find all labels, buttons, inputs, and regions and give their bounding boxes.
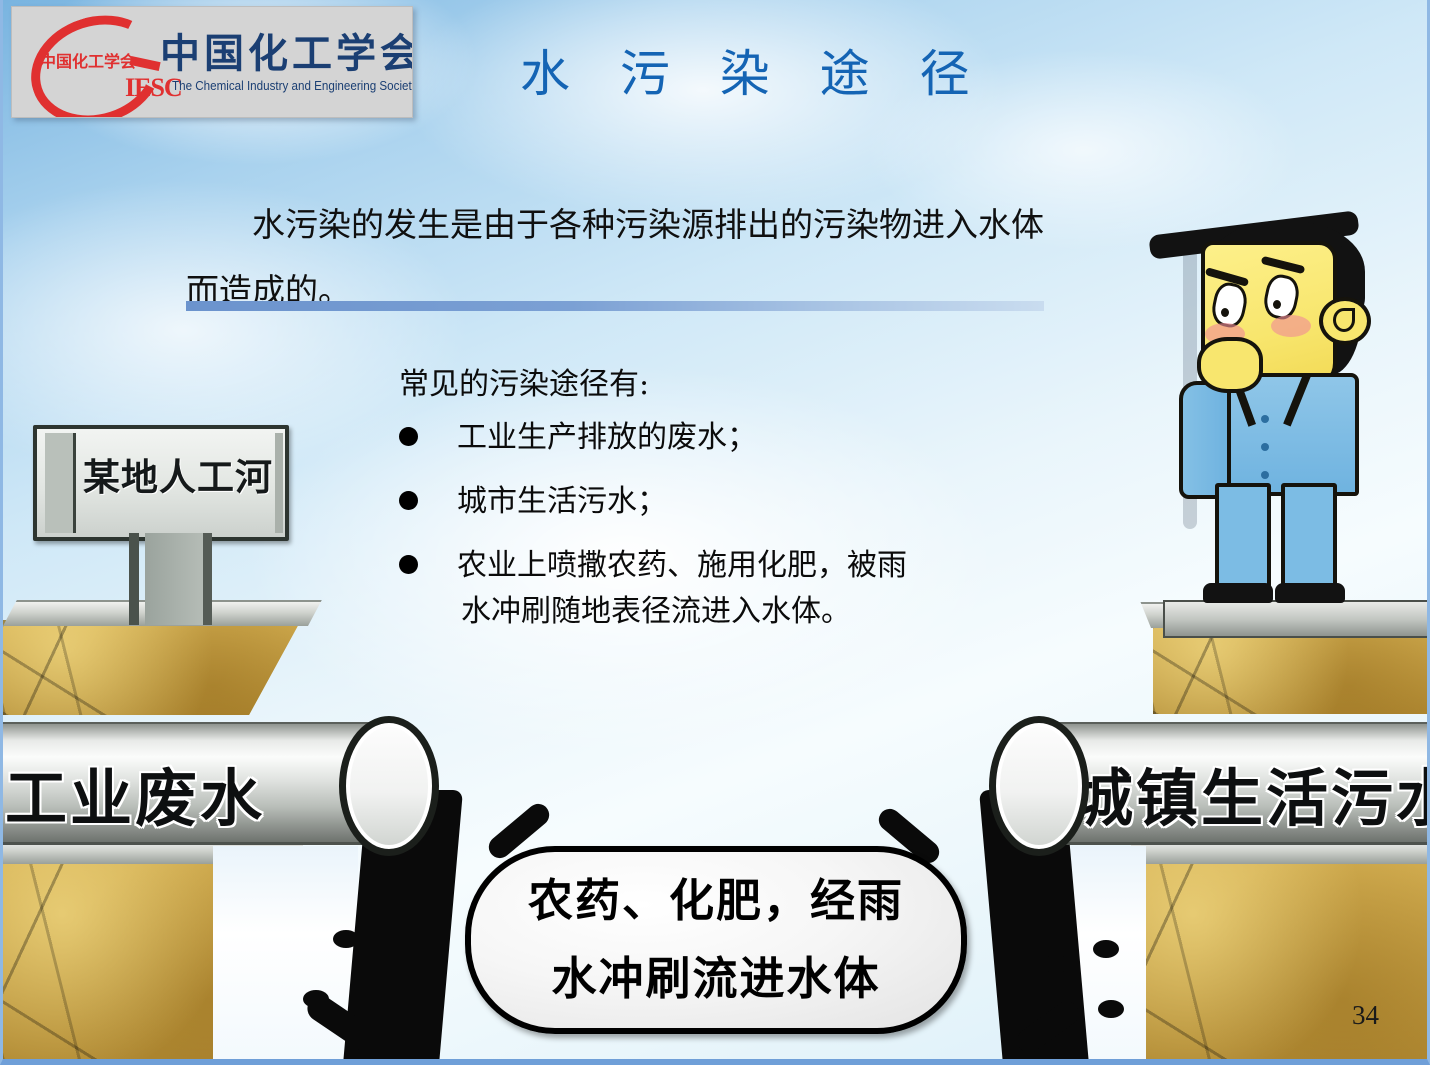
man-platform: [1163, 600, 1430, 638]
road-sign: 某地人工河: [33, 425, 293, 625]
pipe-industrial-wastewater: 工业废水: [0, 722, 397, 845]
pipe-right-label: 城镇生活污水: [1071, 748, 1430, 838]
man-hand: [1197, 337, 1263, 393]
list-item: 城市生活污水；: [399, 479, 1019, 525]
road-sign-board: 某地人工河: [33, 425, 289, 541]
bullet-dot-icon: [399, 427, 418, 446]
callout-bubble: 农药、化肥，经雨 水冲刷流进水体: [465, 846, 967, 1034]
list-item-label-line1: 农业上喷撒农药、施用化肥，被雨: [457, 548, 907, 583]
list-item-label: 城市生活污水；: [457, 479, 667, 525]
page-number: 34: [1352, 1000, 1379, 1031]
sewage-droplet: [1043, 955, 1069, 973]
road-sign-post-left: [129, 533, 139, 625]
man-leg-left: [1215, 483, 1271, 599]
slide-title: 水 污 染 途 径: [503, 34, 943, 106]
man-leg-right: [1281, 483, 1337, 599]
worried-man-illustration: [1143, 205, 1393, 605]
logo-english-name: The Chemical Industry and Engineering So…: [172, 79, 413, 93]
sewage-droplet: [333, 930, 359, 948]
man-shoe-left: [1203, 583, 1273, 603]
pipe-right-mouth-icon: [989, 716, 1089, 856]
man-shoe-right: [1275, 583, 1345, 603]
logo-chinese-name: 中国化工学会: [160, 21, 413, 79]
man-arm: [1179, 381, 1231, 499]
bullet-list: 工业生产排放的废水； 城市生活污水； 农业上喷撒农药、施用化肥，被雨 水冲刷随地…: [399, 415, 1019, 653]
sewage-droplet: [1098, 1000, 1124, 1018]
man-pupil-left: [1221, 308, 1229, 317]
list-item-label: 工业生产排放的废水；: [457, 415, 757, 461]
man-pupil-right: [1273, 300, 1281, 309]
list-item-label: 农业上喷撒农药、施用化肥，被雨 水冲刷随地表径流进入水体。: [457, 543, 907, 635]
paragraph-underline-bar: [186, 301, 1044, 311]
road-sign-band-left: [45, 433, 76, 533]
list-item: 农业上喷撒农药、施用化肥，被雨 水冲刷随地表径流进入水体。: [399, 543, 1019, 635]
pipe-left-label: 工业废水: [5, 748, 265, 838]
bullet-dot-icon: [399, 555, 418, 574]
society-logo: 中国化工学会 中国化工学会 IESC The Chemical Industry…: [11, 6, 413, 118]
callout-line-2: 水冲刷流进水体: [551, 940, 880, 1018]
slide-canvas: 中国化工学会 中国化工学会 IESC The Chemical Industry…: [0, 0, 1430, 1065]
logo-emblem-text: 中国化工学会: [38, 47, 138, 77]
road-sign-post-right: [203, 533, 212, 625]
sewage-droplet: [1093, 940, 1119, 958]
bullet-list-heading: 常见的污染途径有:: [399, 359, 649, 403]
man-shirt-button: [1261, 443, 1269, 451]
bullet-dot-icon: [399, 491, 418, 510]
list-item: 工业生产排放的废水；: [399, 415, 1019, 461]
road-sign-band-right: [275, 433, 283, 533]
callout-line-1: 农药、化肥，经雨: [528, 862, 904, 940]
man-shirt-button: [1261, 471, 1269, 479]
list-item-label-line2: 水冲刷随地表径流进入水体。: [461, 589, 907, 635]
road-sign-post-middle: [145, 533, 203, 625]
man-blush-right: [1271, 315, 1311, 337]
riverbank-right-lower: [1133, 850, 1430, 1065]
man-ear-inner: [1333, 308, 1355, 332]
man-shirt-button: [1261, 415, 1269, 423]
riverbank-left-upper: [3, 620, 303, 715]
pipe-left-mouth-icon: [339, 716, 439, 856]
road-sign-text: 某地人工河: [83, 447, 273, 501]
